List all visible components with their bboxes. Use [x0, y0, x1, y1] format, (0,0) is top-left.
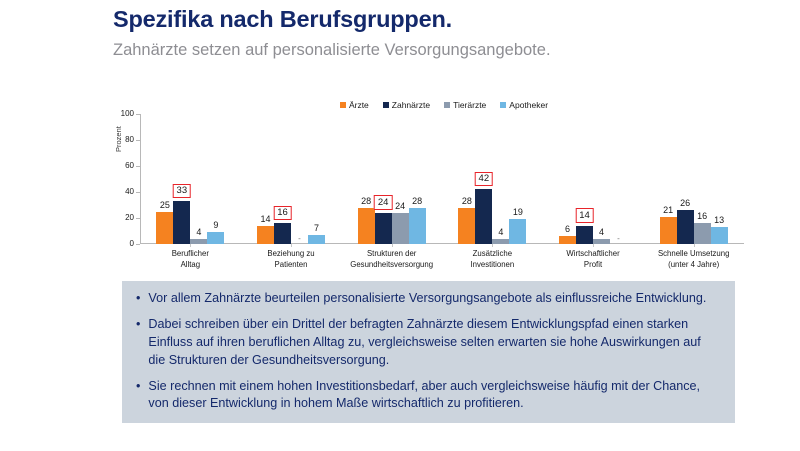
bar-value: 13 [714, 216, 724, 225]
x-axis-category-label: BeruflicherAlltag [132, 249, 249, 270]
x-axis-category-label: Schnelle Umsetzung(unter 4 Jahre) [635, 249, 752, 270]
page-subtitle: Zahnärzte setzen auf personalisierte Ver… [113, 41, 773, 61]
bar[interactable] [576, 226, 593, 244]
category-label-line: Beruflicher [132, 249, 249, 260]
bar-slot[interactable]: 14 [576, 114, 593, 244]
bar-slot[interactable]: 42 [475, 114, 492, 244]
bar-slot[interactable]: 28 [358, 114, 375, 244]
legend-label: Ärzte [349, 100, 369, 110]
legend-item-tierärzte[interactable]: Tierärzte [444, 100, 486, 110]
category-label-line: Profit [535, 260, 652, 271]
bar-value: 19 [513, 208, 523, 217]
y-tick-label: 100 [116, 110, 134, 118]
bar-slot[interactable]: 21 [660, 114, 677, 244]
page-title: Spezifika nach Berufsgruppen. [113, 6, 773, 34]
bar-value: 4 [498, 228, 503, 237]
legend-swatch-icon [444, 102, 450, 108]
bar-value: 21 [663, 206, 673, 215]
bar[interactable] [475, 189, 492, 244]
bar-group-bars: 253349 [140, 114, 241, 244]
bar-slot[interactable]: 28 [409, 114, 426, 244]
bar-value: 9 [213, 221, 218, 230]
bar-value-highlighted: 24 [374, 195, 393, 210]
bar[interactable] [156, 212, 173, 245]
bar[interactable] [274, 223, 291, 244]
bar-value: 4 [599, 228, 604, 237]
bar[interactable] [711, 227, 728, 244]
bar-slot[interactable]: 4 [492, 114, 509, 244]
slide-header: Spezifika nach Berufsgruppen. Zahnärzte … [113, 6, 773, 61]
bar-value: 14 [260, 215, 270, 224]
x-tick-mark [492, 244, 493, 247]
y-tick-label: 20 [116, 214, 134, 222]
bar-slot[interactable]: - [291, 114, 308, 244]
x-tick-mark [593, 244, 594, 247]
bar-group: 28242428Strukturen derGesundheitsversorg… [341, 114, 442, 244]
category-label-line: Alltag [132, 260, 249, 271]
legend-label: Zahnärzte [392, 100, 430, 110]
bar-slot[interactable]: 7 [308, 114, 325, 244]
legend-label: Apotheker [509, 100, 548, 110]
bar-value-highlighted: 42 [475, 172, 494, 187]
bar-value: 24 [395, 202, 405, 211]
bar-slot[interactable]: 6 [559, 114, 576, 244]
bar[interactable] [190, 239, 207, 244]
category-label-line: Patienten [233, 260, 350, 271]
bar[interactable] [308, 235, 325, 244]
category-label-line: Strukturen der [333, 249, 450, 260]
bullet-marker-icon: • [136, 378, 140, 414]
bar-group: 253349BeruflicherAlltag [140, 114, 241, 244]
bar-value: 28 [361, 197, 371, 206]
bar-group: 1416-7Beziehung zuPatienten [241, 114, 342, 244]
category-label-line: Investitionen [434, 260, 551, 271]
bar-group-bars: 28242428 [341, 114, 442, 244]
bar[interactable] [358, 208, 375, 244]
bar-group-bars: 1416-7 [241, 114, 342, 244]
legend-swatch-icon [340, 102, 346, 108]
bar-slot[interactable]: 25 [156, 114, 173, 244]
bar-slot[interactable]: 24 [392, 114, 409, 244]
bar[interactable] [409, 208, 426, 244]
x-tick-mark [392, 244, 393, 247]
bullet-text: Dabei schreiben über ein Drittel der bef… [148, 316, 721, 370]
bar-slot[interactable]: 4 [593, 114, 610, 244]
bar[interactable] [492, 239, 509, 244]
x-axis-category-label: Beziehung zuPatienten [233, 249, 350, 270]
bar-value: 28 [462, 197, 472, 206]
chart-legend: ÄrzteZahnärzteTierärzteApotheker [294, 100, 594, 110]
legend-swatch-icon [500, 102, 506, 108]
bar-value: 4 [196, 228, 201, 237]
bar[interactable] [257, 226, 274, 244]
bar[interactable] [660, 217, 677, 244]
y-tick-label: 0 [116, 240, 134, 248]
bar-slot[interactable]: 24 [375, 114, 392, 244]
bar-value: 16 [697, 212, 707, 221]
bar[interactable] [392, 213, 409, 244]
category-label-line: Gesundheitsversorgung [333, 260, 450, 271]
bar-slot[interactable]: 19 [509, 114, 526, 244]
legend-item-zahnärzte[interactable]: Zahnärzte [383, 100, 430, 110]
bullet-item: •Dabei schreiben über ein Drittel der be… [136, 316, 721, 370]
no-data-marker: - [617, 235, 620, 243]
legend-label: Tierärzte [453, 100, 486, 110]
bar[interactable] [458, 208, 475, 244]
x-axis-category-label: ZusätzlicheInvestitionen [434, 249, 551, 270]
bullet-marker-icon: • [136, 290, 140, 308]
bar-groups: 253349BeruflicherAlltag1416-7Beziehung z… [140, 114, 744, 244]
category-label-line: Zusätzliche [434, 249, 551, 260]
y-tick-label: 80 [116, 136, 134, 144]
bar[interactable] [207, 232, 224, 244]
bar-slot[interactable]: 13 [711, 114, 728, 244]
bar-value: 7 [314, 224, 319, 233]
bar-group: 2842419ZusätzlicheInvestitionen [442, 114, 543, 244]
bullet-item: •Vor allem Zahnärzte beurteilen personal… [136, 290, 721, 308]
summary-panel: •Vor allem Zahnärzte beurteilen personal… [122, 281, 735, 423]
bullet-marker-icon: • [136, 316, 140, 370]
category-label-line: Beziehung zu [233, 249, 350, 260]
x-axis-category-label: Strukturen derGesundheitsversorgung [333, 249, 450, 270]
bar-slot[interactable]: 26 [677, 114, 694, 244]
bar[interactable] [375, 213, 392, 244]
legend-swatch-icon [383, 102, 389, 108]
category-label-line: Schnelle Umsetzung [635, 249, 752, 260]
bar-value: 28 [412, 197, 422, 206]
bar[interactable] [509, 219, 526, 244]
x-tick-mark [694, 244, 695, 247]
bar-chart: ÄrzteZahnärzteTierärzteApotheker Prozent… [104, 100, 744, 280]
bar-group-bars: 2842419 [442, 114, 543, 244]
bar-slot[interactable]: 33 [173, 114, 190, 244]
legend-item-ärzte[interactable]: Ärzte [340, 100, 369, 110]
bar[interactable] [677, 210, 694, 244]
bar-value: 6 [565, 225, 570, 234]
bullet-text: Vor allem Zahnärzte beurteilen personali… [148, 290, 721, 308]
y-tick-mark [136, 244, 140, 245]
category-label-line: Wirtschaftlicher [535, 249, 652, 260]
legend-item-apotheker[interactable]: Apotheker [500, 100, 548, 110]
bar-slot[interactable]: 16 [694, 114, 711, 244]
bar-group-bars: 21261613 [643, 114, 744, 244]
x-axis-category-label: WirtschaftlicherProfit [535, 249, 652, 270]
bar-value: 25 [160, 201, 170, 210]
bullet-item: •Sie rechnen mit einem hohen Investition… [136, 378, 721, 414]
no-data-marker: - [298, 235, 301, 243]
bar[interactable] [694, 223, 711, 244]
bar-slot[interactable]: 28 [458, 114, 475, 244]
bar-slot[interactable]: - [610, 114, 627, 244]
x-tick-mark [291, 244, 292, 247]
bar-group-bars: 6144- [543, 114, 644, 244]
category-label-line: (unter 4 Jahre) [635, 260, 752, 271]
bar-group: 21261613Schnelle Umsetzung(unter 4 Jahre… [643, 114, 744, 244]
bullet-text: Sie rechnen mit einem hohen Investitions… [148, 378, 721, 414]
bar-slot[interactable]: 14 [257, 114, 274, 244]
bar-slot[interactable]: 16 [274, 114, 291, 244]
bar-value-highlighted: 33 [173, 184, 192, 199]
bar-value-highlighted: 16 [273, 206, 292, 221]
bar-value-highlighted: 14 [575, 208, 594, 223]
bar-group: 6144-WirtschaftlicherProfit [543, 114, 644, 244]
x-tick-mark [190, 244, 191, 247]
bar[interactable] [559, 236, 576, 244]
y-tick-label: 40 [116, 188, 134, 196]
chart-plot-area: Prozent 020406080100 253349BeruflicherAl… [140, 114, 744, 244]
bar-value: 26 [680, 199, 690, 208]
y-tick-label: 60 [116, 162, 134, 170]
bar[interactable] [173, 201, 190, 244]
bar-slot[interactable]: 4 [190, 114, 207, 244]
bar-slot[interactable]: 9 [207, 114, 224, 244]
bar[interactable] [593, 239, 610, 244]
